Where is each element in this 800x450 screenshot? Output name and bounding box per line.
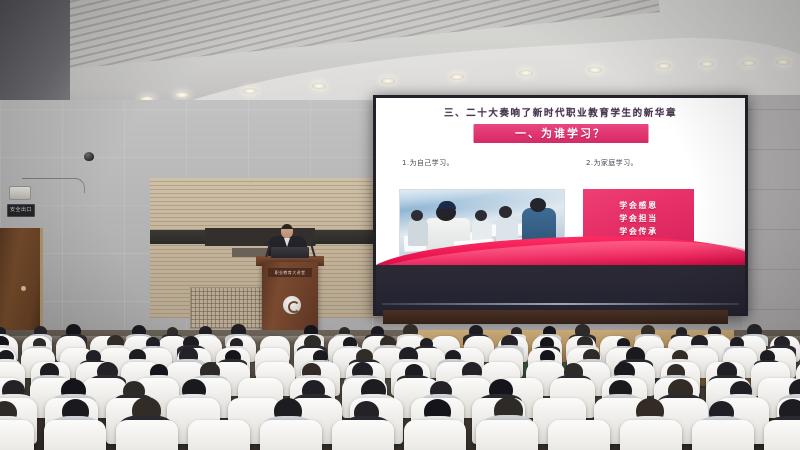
screen-base-cabinet (383, 310, 728, 324)
podium-nameplate: 职业教育大讲堂 (268, 268, 312, 277)
podium-crest-icon (283, 296, 301, 314)
screenshot-root: 安全出口 三、二十大奏响了新时代职业教育学生的新华章 一、为谁学习？ 1.为自己… (0, 0, 800, 450)
downlight-icon (312, 83, 326, 89)
slide-footer-line (382, 303, 739, 305)
seat[interactable] (620, 420, 682, 450)
presentation-screen: 三、二十大奏响了新时代职业教育学生的新华章 一、为谁学习？ 1.为自己学习。 2… (373, 95, 748, 316)
downlight-icon (450, 74, 464, 80)
seat[interactable] (44, 420, 106, 450)
seat[interactable] (548, 420, 610, 450)
downlight-icon (175, 92, 189, 98)
slide-title: 三、二十大奏响了新时代职业教育学生的新华章 (376, 105, 745, 119)
downlight-icon (776, 59, 790, 65)
downlight-icon (381, 78, 395, 84)
downlight-icon (519, 70, 533, 76)
downlight-icon (243, 88, 257, 94)
slogan-line-2: 学会担当 (619, 213, 657, 224)
downlight-icon (742, 60, 756, 66)
slogan-line-3: 学会传承 (619, 226, 657, 237)
slide-content: 三、二十大奏响了新时代职业教育学生的新华章 一、为谁学习？ 1.为自己学习。 2… (376, 98, 745, 313)
slide-banner-label: 一、为谁学习？ (473, 124, 648, 143)
seat[interactable] (476, 420, 538, 450)
downlight-icon (657, 63, 671, 69)
podium-laptop (271, 247, 309, 258)
wall-conduit (22, 178, 85, 193)
downlight-icon (588, 67, 602, 73)
security-camera-icon (84, 152, 94, 161)
slide-point-2: 2.为家庭学习。 (586, 158, 638, 168)
speaker-head (281, 224, 293, 238)
seat[interactable] (260, 420, 322, 450)
wall-right-panel (742, 95, 800, 350)
seat[interactable] (332, 420, 394, 450)
slogan-line-1: 学会感恩 (619, 200, 657, 211)
seat[interactable] (116, 420, 178, 450)
seat[interactable] (764, 420, 800, 450)
exit-sign: 安全出口 (7, 204, 35, 217)
seat[interactable] (692, 420, 754, 450)
podium-nameplate-label: 职业教育大讲堂 (268, 268, 312, 277)
seat[interactable] (0, 420, 34, 450)
seat[interactable] (404, 420, 466, 450)
slide-footer-band (376, 265, 745, 313)
emergency-light-icon (9, 186, 31, 200)
slide-section-banner: 一、为谁学习？ (473, 124, 648, 143)
door-handle-icon[interactable] (21, 286, 26, 291)
exit-sign-label: 安全出口 (8, 205, 34, 216)
downlight-icon (700, 61, 714, 67)
slide-point-1: 1.为自己学习。 (402, 158, 454, 168)
microphone-head-right (311, 241, 316, 246)
seat[interactable] (188, 420, 250, 450)
microphone-head-left (264, 241, 269, 246)
